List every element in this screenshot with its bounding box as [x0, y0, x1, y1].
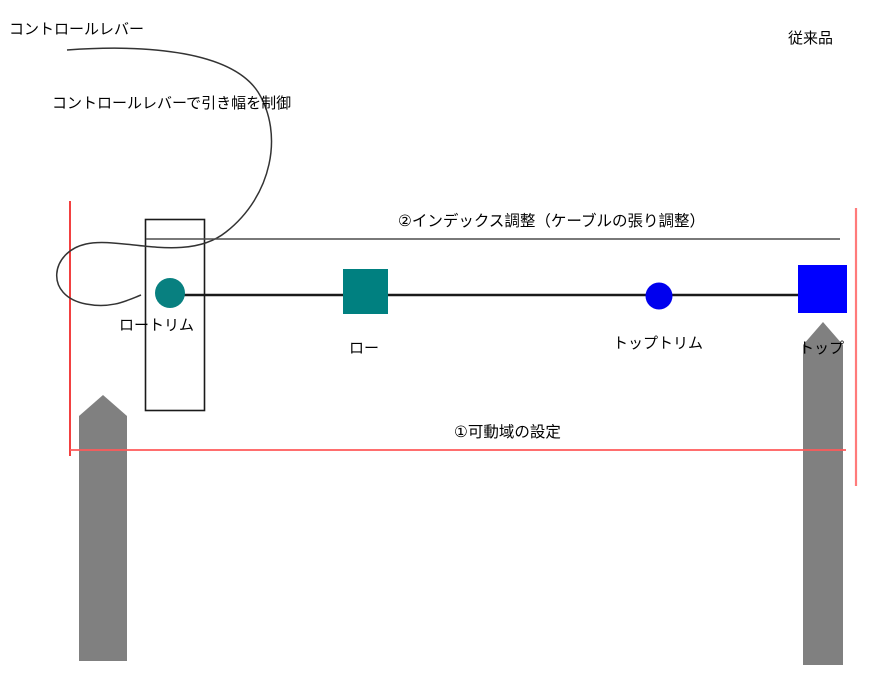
control-lever-title: コントロールレバー — [9, 22, 144, 37]
marker-top[interactable] — [798, 265, 847, 313]
marker-label-low: ロー — [349, 341, 379, 356]
range-setting-label: ①可動域の設定 — [454, 425, 561, 441]
right-range-arrow — [803, 322, 843, 665]
marker-label-top: トップ — [799, 341, 844, 356]
left-range-arrow — [79, 395, 127, 661]
control-lever-curve — [57, 48, 272, 305]
marker-top-trim[interactable] — [646, 283, 673, 310]
marker-label-low-trim: ロートリム — [119, 318, 194, 333]
marker-label-top-trim: トップトリム — [613, 336, 703, 351]
index-adjust-label: ②インデックス調整（ケーブルの張り調整） — [398, 214, 705, 230]
diagram-canvas: コントロールレバー 従来品 コントロールレバーで引き幅を制御 ②インデックス調整… — [0, 0, 877, 694]
marker-low[interactable] — [343, 269, 388, 314]
conventional-product-title: 従来品 — [788, 31, 833, 46]
control-lever-note: コントロールレバーで引き幅を制御 — [52, 96, 291, 111]
marker-low-trim[interactable] — [155, 278, 185, 308]
